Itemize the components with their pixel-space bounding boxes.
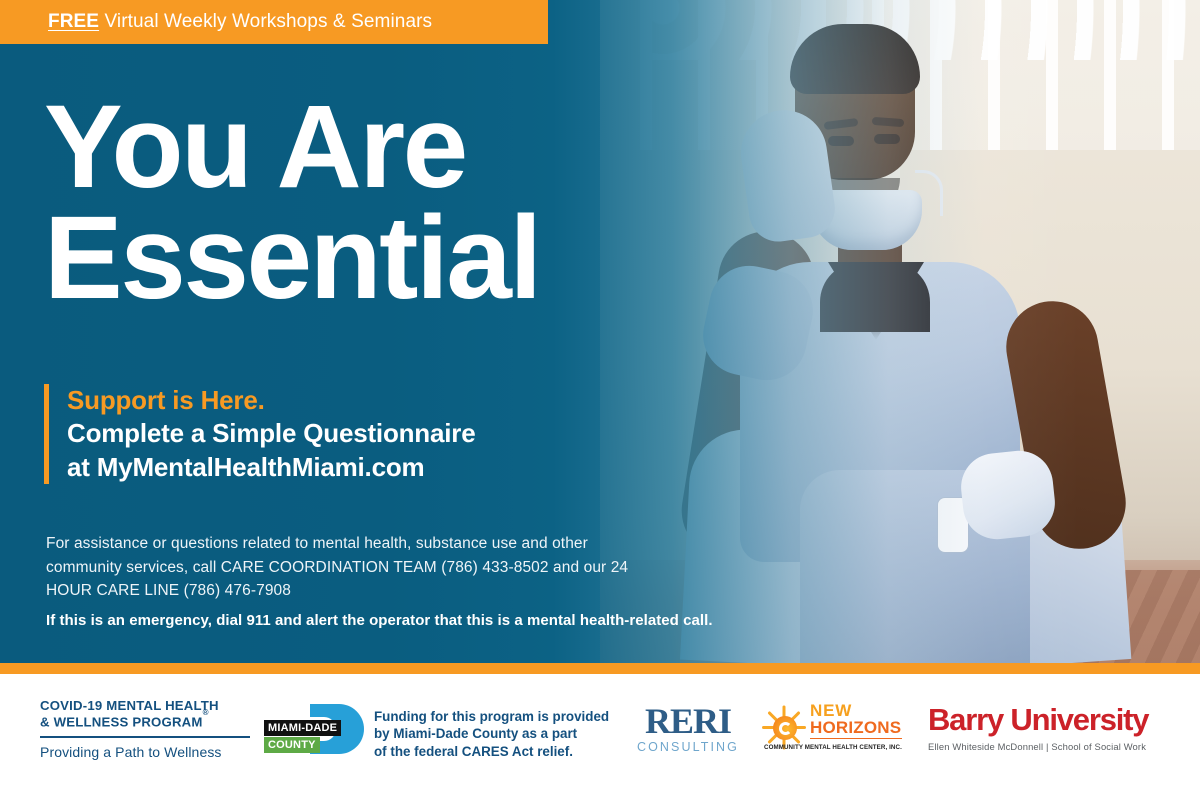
reri-consulting-logo: RERI CONSULTING	[632, 704, 744, 754]
assistance-text: For assistance or questions related to m…	[46, 532, 666, 603]
funding-line-3: of the federal CARES Act relief.	[374, 743, 614, 760]
new-horizons-line-1: NEW	[810, 702, 902, 719]
new-horizons-rule	[810, 738, 902, 740]
sun-swirl	[779, 722, 792, 735]
new-horizons-line-2: HORIZONS	[810, 719, 902, 737]
barry-university-logo: Barry University Ellen Whiteside McDonne…	[928, 704, 1160, 752]
covid-logo-title-line-1: COVID-19 MENTAL HEALTH	[40, 698, 250, 714]
new-horizons-subtitle: COMMUNITY MENTAL HEALTH CENTER, INC.	[764, 744, 904, 751]
reri-logo-name: RERI	[632, 704, 744, 738]
ribbon-description: Virtual Weekly Workshops & Seminars	[99, 11, 432, 32]
new-horizons-sub-wrap: COMMUNITY MENTAL HEALTH CENTER, INC.	[764, 742, 904, 751]
barry-logo-sub: Ellen Whiteside McDonnell | School of So…	[928, 741, 1160, 752]
free-workshops-ribbon: FREE Virtual Weekly Workshops & Seminars	[0, 0, 548, 44]
poster: FREE Virtual Weekly Workshops & Seminars…	[0, 0, 1200, 800]
support-callout: Support is Here. Complete a Simple Quest…	[44, 384, 604, 484]
funding-statement: Funding for this program is provided by …	[374, 708, 614, 760]
support-website-url[interactable]: at MyMentalHealthMiami.com	[67, 451, 604, 484]
funding-line-2: by Miami-Dade County as a part	[374, 725, 614, 742]
new-horizons-wordmark: NEW HORIZONS	[810, 702, 902, 739]
miami-dade-county-logo: MIAMI-DADE COUNTY	[264, 704, 364, 754]
dade-county-label: COUNTY	[264, 737, 320, 753]
covid-logo-tagline: Providing a Path to Wellness	[40, 744, 250, 760]
page-title: You Are Essential	[44, 92, 684, 314]
dade-miami-label: MIAMI-DADE	[264, 720, 341, 736]
covid-logo-rule	[40, 736, 250, 738]
reri-logo-sub: CONSULTING	[632, 740, 744, 754]
support-questionnaire-text: Complete a Simple Questionnaire	[67, 417, 604, 450]
funding-line-1: Funding for this program is provided	[374, 708, 614, 725]
headline-line-2: Essential	[44, 203, 684, 314]
barry-logo-name: Barry University	[928, 704, 1160, 735]
hero-section: FREE Virtual Weekly Workshops & Seminars…	[0, 0, 1200, 663]
support-lead-text: Support is Here.	[67, 384, 604, 417]
covid-logo-title: COVID-19 MENTAL HEALTH & WELLNESS PROGRA…	[40, 698, 250, 731]
emergency-text: If this is an emergency, dial 911 and al…	[46, 612, 806, 629]
ribbon-free-label: FREE	[48, 11, 99, 32]
ribbon-text: FREE Virtual Weekly Workshops & Seminars	[0, 11, 432, 33]
orange-divider	[0, 663, 1200, 674]
headline-line-1: You Are	[44, 92, 684, 203]
covid-program-logo: COVID-19 MENTAL HEALTH & WELLNESS PROGRA…	[40, 698, 250, 760]
covid-logo-title-line-2: & WELLNESS PROGRAM®	[40, 714, 250, 730]
new-horizons-logo: NEW HORIZONS COMMUNITY MENTAL HEALTH CEN…	[762, 702, 902, 756]
registered-mark: ®	[203, 708, 209, 717]
